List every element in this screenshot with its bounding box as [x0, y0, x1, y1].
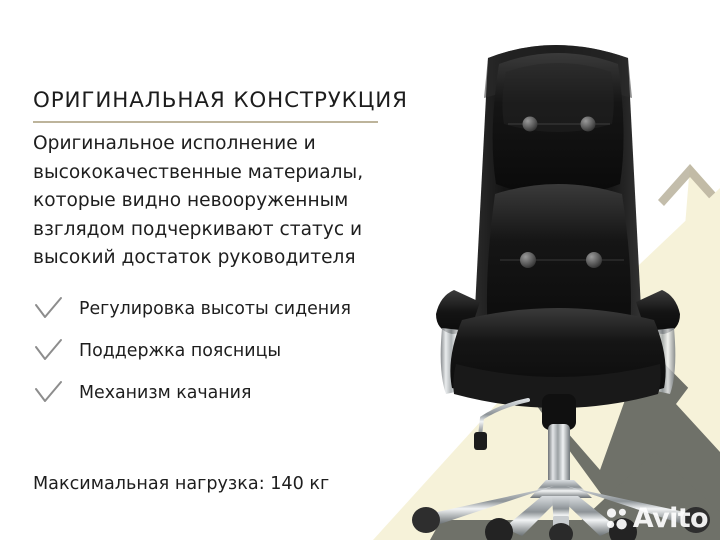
- product-promo-card: ОРИГИНАЛЬНАЯ КОНСТРУКЦИЯ Оригинальное ис…: [0, 0, 720, 540]
- check-icon: [33, 380, 63, 406]
- list-item: Механизм качания: [33, 372, 403, 414]
- tufting-button: [586, 252, 602, 268]
- chair-caster: [485, 518, 513, 540]
- feature-label: Механизм качания: [79, 383, 251, 403]
- tufting-button: [581, 117, 596, 132]
- chair-tilt-lever-knob: [474, 432, 487, 450]
- title-underline-rule: [33, 121, 378, 123]
- list-item: Поддержка поясницы: [33, 330, 403, 372]
- description-line: взглядом подчеркивают статус и: [33, 216, 403, 245]
- description-paragraph: Оригинальное исполнение и высококачестве…: [33, 130, 403, 273]
- feature-label: Поддержка поясницы: [79, 341, 281, 361]
- description-line: которые видно невооруженным: [33, 187, 403, 216]
- tufting-button: [523, 117, 538, 132]
- check-icon: [33, 338, 63, 364]
- description-line: высококачественные материалы,: [33, 159, 403, 188]
- headrest-upper-pleat: [502, 63, 613, 132]
- page-title: ОРИГИНАЛЬНАЯ КОНСТРУКЦИЯ: [33, 88, 393, 114]
- feature-label: Регулировка высоты сидения: [79, 299, 351, 319]
- description-line: высокий достаток руководителя: [33, 244, 403, 273]
- check-icon: [33, 296, 63, 322]
- list-item: Регулировка высоты сидения: [33, 288, 403, 330]
- chair-caster: [609, 518, 637, 540]
- tufting-button: [520, 252, 536, 268]
- description-line: Оригинальное исполнение и: [33, 130, 403, 159]
- feature-list: Регулировка высоты сидения Поддержка поя…: [33, 288, 403, 414]
- marketing-copy-column: ОРИГИНАЛЬНАЯ КОНСТРУКЦИЯ Оригинальное ис…: [0, 0, 400, 540]
- max-load-text: Максимальная нагрузка: 140 кг: [33, 474, 329, 494]
- chair-caster: [549, 523, 573, 540]
- chair-caster: [682, 507, 710, 533]
- base-hub: [530, 480, 592, 498]
- product-image-office-chair: [396, 28, 720, 540]
- chair-caster: [412, 507, 440, 533]
